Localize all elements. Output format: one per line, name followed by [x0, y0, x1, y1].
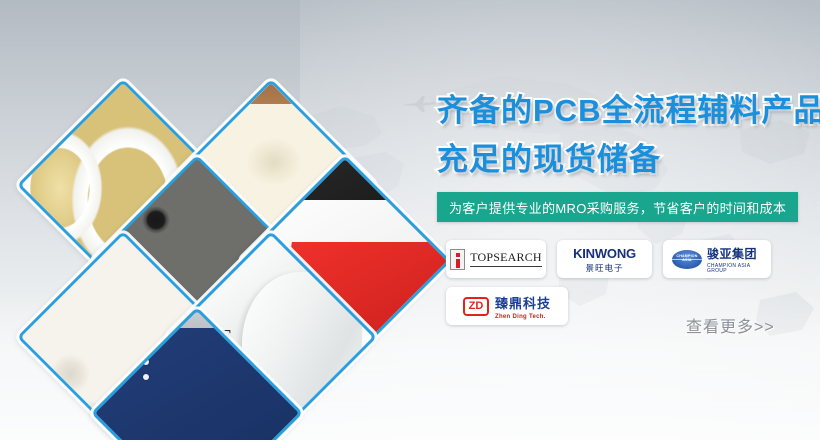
headline-line-1: 齐备的PCB全流程辅料产品、 [437, 95, 820, 126]
logo-zhen-ding-label-cn: 臻鼎科技 [495, 293, 551, 312]
subtitle-bar: 为客户提供专业的MRO采购服务，节省客户的时间和成本 [437, 192, 798, 222]
logo-topsearch-label: TOPSEARCH [470, 251, 542, 266]
logo-kinwong-label-en: KINWONG [573, 246, 636, 261]
logo-champion-asia-label-en: CHAMPION ASIA GROUP [707, 264, 762, 274]
champion-asia-globe-text: CHAMPION ASIA [672, 255, 702, 262]
logo-row-1: TOPSEARCH KINWONG 景旺电子 CHAMPION ASIA [446, 240, 806, 278]
logo-kinwong-label-cn: 景旺电子 [573, 264, 636, 273]
zhen-ding-zd-mark-icon [463, 297, 489, 316]
hero-banner: JIE 齐备的PCB全流程辅料产品、 充足的现货储备 为客户提供专业的MRO采购… [0, 0, 820, 440]
logo-topsearch[interactable]: TOPSEARCH [446, 240, 546, 278]
banner-content: 齐备的PCB全流程辅料产品、 充足的现货储备 为客户提供专业的MRO采购服务，节… [0, 0, 820, 440]
logo-zhen-ding-label-en: Zhen Ding Tech. [495, 314, 551, 320]
logo-champion-asia-label-cn: 骏亚集团 [707, 245, 762, 262]
logo-zhen-ding[interactable]: 臻鼎科技 Zhen Ding Tech. [446, 287, 568, 325]
headline-line-2: 充足的现货储备 [437, 144, 661, 175]
subtitle-text: 为客户提供专业的MRO采购服务，节省客户的时间和成本 [449, 198, 786, 217]
view-more-link[interactable]: 查看更多>> [686, 313, 775, 337]
champion-asia-globe-icon: CHAMPION ASIA [672, 250, 702, 269]
logo-kinwong[interactable]: KINWONG 景旺电子 [557, 240, 652, 278]
topsearch-i-mark-icon [450, 249, 465, 270]
logo-champion-asia[interactable]: CHAMPION ASIA 骏亚集团 CHAMPION ASIA GROUP [663, 240, 771, 278]
